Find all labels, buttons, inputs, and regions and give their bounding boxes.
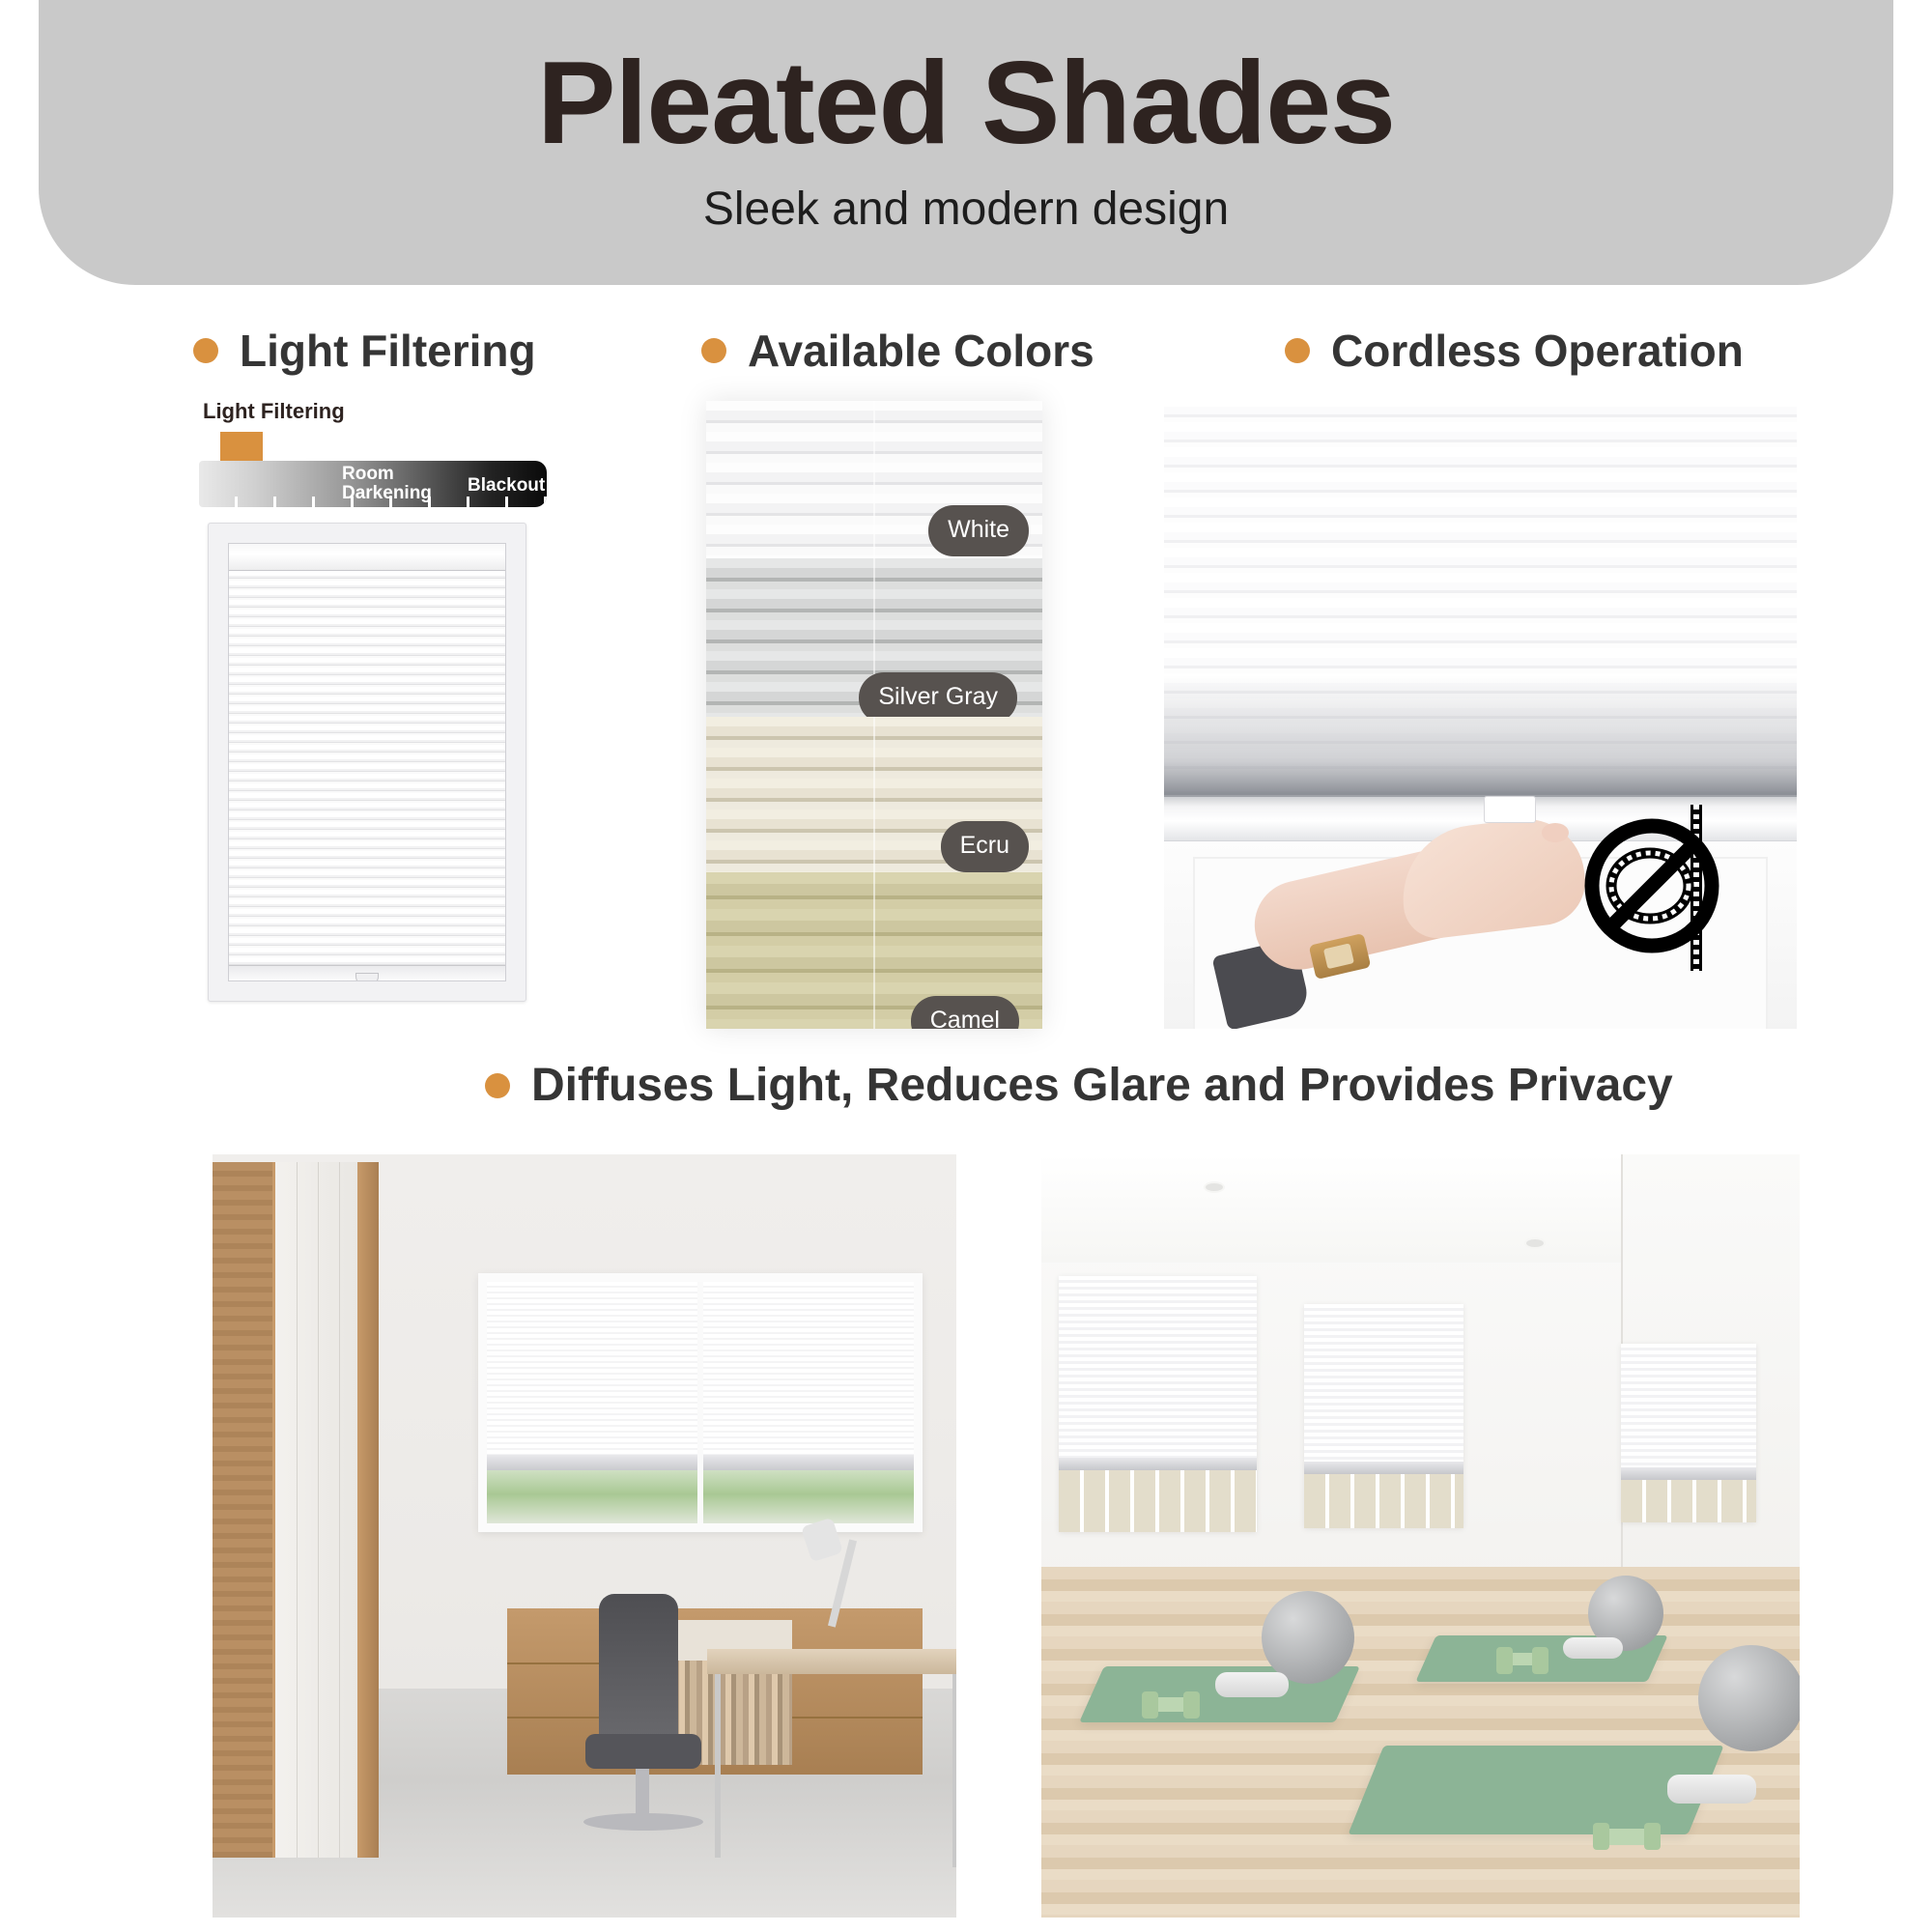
dumbbell bbox=[1150, 1697, 1192, 1712]
swatch-crease-line bbox=[873, 872, 875, 1029]
product-window-image bbox=[208, 523, 526, 1002]
swatch-label-pill: White bbox=[928, 505, 1029, 556]
gauge-tick bbox=[315, 497, 354, 507]
shade-headrail bbox=[229, 544, 505, 571]
swatch-label-pill: Camel bbox=[911, 996, 1019, 1029]
desk-top bbox=[707, 1649, 956, 1674]
gauge-ticks bbox=[199, 497, 547, 507]
window-pane-right bbox=[700, 1282, 914, 1523]
gauge-label-blackout: Blackout bbox=[468, 476, 545, 496]
swatch-crease-line bbox=[873, 401, 875, 558]
pleated-shade bbox=[487, 1282, 700, 1470]
window-view bbox=[700, 1470, 914, 1523]
window-opening bbox=[228, 543, 506, 981]
hand-lifting-shade bbox=[1256, 802, 1594, 1009]
thumb bbox=[1542, 823, 1569, 842]
gauge-tick bbox=[392, 497, 431, 507]
ceiling-light-icon bbox=[1204, 1181, 1225, 1193]
window-view bbox=[487, 1470, 700, 1523]
header-banner: Pleated Shades Sleek and modern design bbox=[39, 0, 1893, 285]
gauge-tick bbox=[354, 497, 392, 507]
gym-floor bbox=[1041, 1567, 1800, 1918]
dumbbell bbox=[1602, 1829, 1652, 1845]
light-filtering-panel: Light Filtering Room Darkening Blackout bbox=[199, 401, 547, 1002]
office-window bbox=[478, 1273, 923, 1532]
gauge-label-line1: Room bbox=[342, 465, 432, 484]
section-heading-available-colors: Available Colors bbox=[701, 328, 1094, 373]
page-title: Pleated Shades bbox=[537, 43, 1395, 161]
shade-handle-icon bbox=[355, 973, 379, 981]
wardrobe-edge bbox=[357, 1162, 379, 1858]
color-swatch-ecru[interactable]: Ecru bbox=[706, 717, 1042, 872]
swatch-label-pill: Ecru bbox=[941, 821, 1029, 872]
window-mullion bbox=[697, 1282, 703, 1523]
pleated-shade bbox=[1621, 1344, 1756, 1480]
lifestyle-photo-gym bbox=[1041, 1154, 1800, 1918]
gym-window-3 bbox=[1621, 1344, 1756, 1522]
window-pane-left bbox=[487, 1282, 700, 1523]
section-label: Diffuses Light, Reduces Glare and Provid… bbox=[531, 1063, 1673, 1109]
dumbbell bbox=[1503, 1653, 1542, 1665]
bullet-dot-icon bbox=[701, 338, 726, 363]
page-subtitle: Sleek and modern design bbox=[703, 186, 1229, 233]
lifestyle-photo-office bbox=[213, 1154, 956, 1918]
section-label: Light Filtering bbox=[240, 328, 536, 373]
window-view bbox=[1059, 1470, 1257, 1532]
gauge-tick bbox=[199, 497, 238, 507]
section-label: Cordless Operation bbox=[1331, 328, 1744, 373]
swatch-crease-line bbox=[873, 717, 875, 872]
exercise-ball bbox=[1262, 1591, 1354, 1684]
section-label: Available Colors bbox=[748, 328, 1094, 373]
section-heading-diffuses-light: Diffuses Light, Reduces Glare and Provid… bbox=[485, 1063, 1673, 1109]
shade-pleats bbox=[229, 571, 505, 965]
ceiling-light-icon bbox=[1524, 1237, 1546, 1249]
window-view bbox=[1304, 1474, 1463, 1528]
gauge-tick bbox=[276, 497, 315, 507]
infographic-page: Pleated Shades Sleek and modern design L… bbox=[0, 0, 1932, 1932]
office-chair-base bbox=[583, 1813, 703, 1831]
opacity-gauge: Room Darkening Blackout bbox=[199, 432, 547, 507]
rail-clip bbox=[1484, 796, 1536, 823]
pleated-shade bbox=[1059, 1276, 1257, 1470]
pleated-shade-closeup bbox=[1164, 397, 1797, 795]
section-heading-light-filtering: Light Filtering bbox=[193, 328, 536, 373]
pleated-shade bbox=[1304, 1304, 1463, 1474]
bullet-dot-icon bbox=[193, 338, 218, 363]
cordless-operation-photo bbox=[1164, 397, 1797, 1029]
bullet-dot-icon bbox=[1285, 338, 1310, 363]
gauge-tick bbox=[508, 497, 547, 507]
gauge-bar: Room Darkening Blackout bbox=[199, 461, 547, 507]
color-swatch-camel[interactable]: Camel bbox=[706, 872, 1042, 1029]
wardrobe-doors bbox=[272, 1162, 357, 1858]
section-heading-cordless-operation: Cordless Operation bbox=[1285, 328, 1744, 373]
gauge-tick bbox=[431, 497, 469, 507]
no-cords-icon bbox=[1582, 801, 1737, 975]
swatch-label-pill: Silver Gray bbox=[859, 672, 1017, 717]
gym-window-2 bbox=[1304, 1304, 1463, 1528]
gauge-tick bbox=[238, 497, 276, 507]
foam-roller bbox=[1667, 1775, 1756, 1804]
desk-leg bbox=[715, 1674, 721, 1858]
pleated-shade bbox=[700, 1282, 914, 1470]
light-filtering-caption: Light Filtering bbox=[203, 401, 547, 422]
wardrobe-wood-side bbox=[213, 1162, 272, 1858]
desk-leg bbox=[952, 1674, 956, 1867]
gym-window-1 bbox=[1059, 1276, 1257, 1532]
window-view bbox=[1621, 1480, 1756, 1522]
gauge-tick bbox=[469, 497, 508, 507]
color-swatch-white[interactable]: White bbox=[706, 401, 1042, 558]
office-chair-seat bbox=[585, 1734, 701, 1769]
office-chair-post bbox=[636, 1769, 649, 1819]
bullet-dot-icon bbox=[485, 1073, 510, 1098]
office-chair-back bbox=[599, 1594, 678, 1748]
exercise-ball bbox=[1698, 1645, 1800, 1751]
foam-roller bbox=[1563, 1637, 1623, 1659]
shade-bottom-rail bbox=[229, 965, 505, 980]
color-swatch-silver-gray[interactable]: Silver Gray bbox=[706, 558, 1042, 717]
color-swatch-panel: White Silver Gray Ecru Camel bbox=[706, 401, 1042, 1029]
foam-roller bbox=[1215, 1672, 1289, 1697]
